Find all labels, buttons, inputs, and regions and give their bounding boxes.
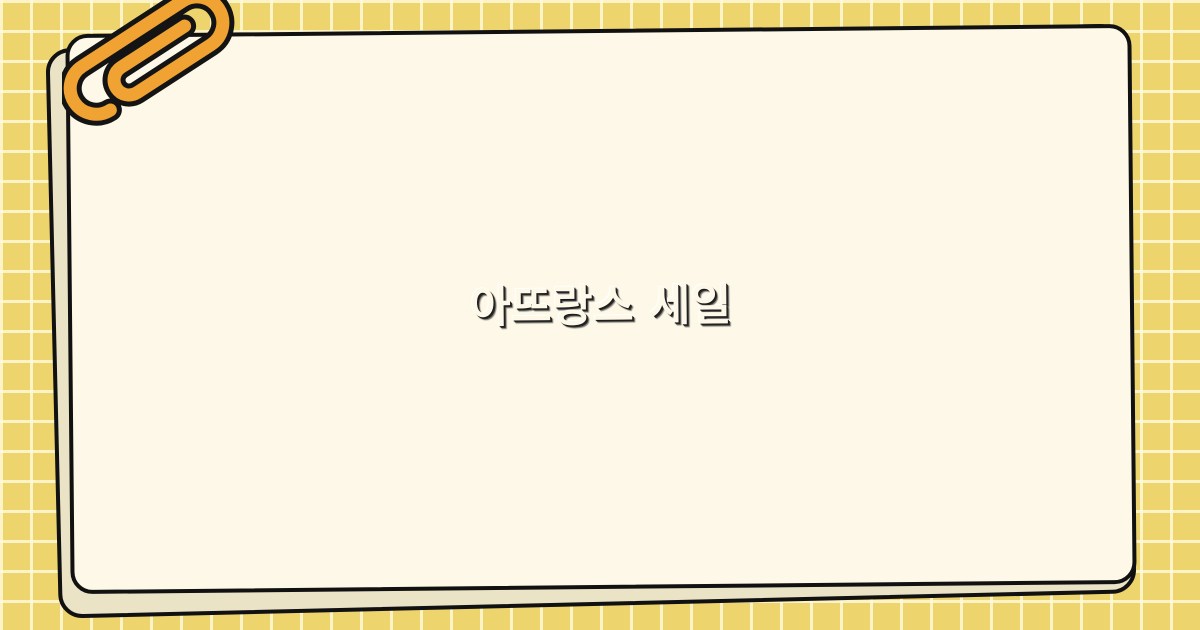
- title-container: 아뜨랑스 세일: [72, 273, 1131, 344]
- poster-canvas: 아뜨랑스 세일: [0, 0, 1200, 630]
- page-title: 아뜨랑스 세일: [470, 277, 732, 335]
- card-front-layer: 아뜨랑스 세일: [65, 24, 1136, 594]
- card-stack: 아뜨랑스 세일: [0, 0, 1200, 630]
